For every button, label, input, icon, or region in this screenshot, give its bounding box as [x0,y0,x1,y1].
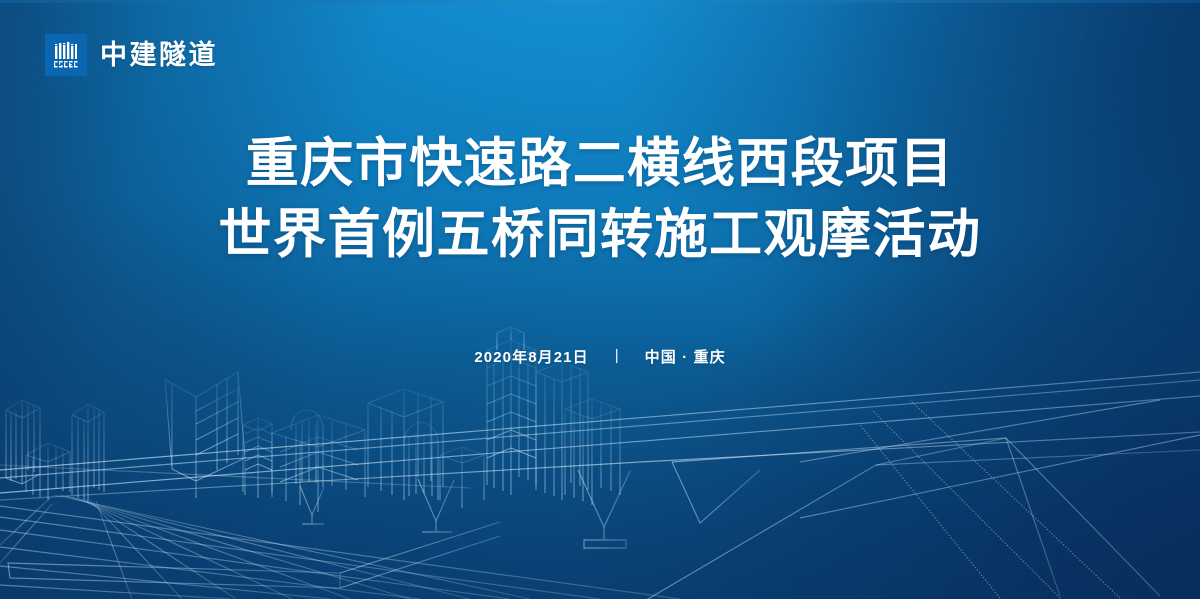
event-meta: 2020年8月21日 | 中国 · 重庆 [0,346,1200,367]
brand-name: 中建隧道 [100,42,218,69]
event-backdrop-poster: 中建隧道 重庆市快速路二横线西段项目 世界首例五桥同转施工观摩活动 2020年8… [0,0,1200,599]
brand-lockup: 中建隧道 [45,34,218,76]
title-line-2: 世界首例五桥同转施工观摩活动 [0,199,1200,270]
decorative-line-art [0,0,1200,599]
meta-separator: | [615,348,619,363]
event-date: 2020年8月21日 [474,346,588,367]
page-title: 重庆市快速路二横线西段项目 世界首例五桥同转施工观摩活动 [0,128,1200,270]
bridge-group [0,372,1200,599]
event-location: 中国 · 重庆 [645,346,726,367]
title-line-1: 重庆市快速路二横线西段项目 [0,128,1200,199]
cscec-logo-icon [45,34,87,76]
cscec-logo-glyph [51,40,81,70]
